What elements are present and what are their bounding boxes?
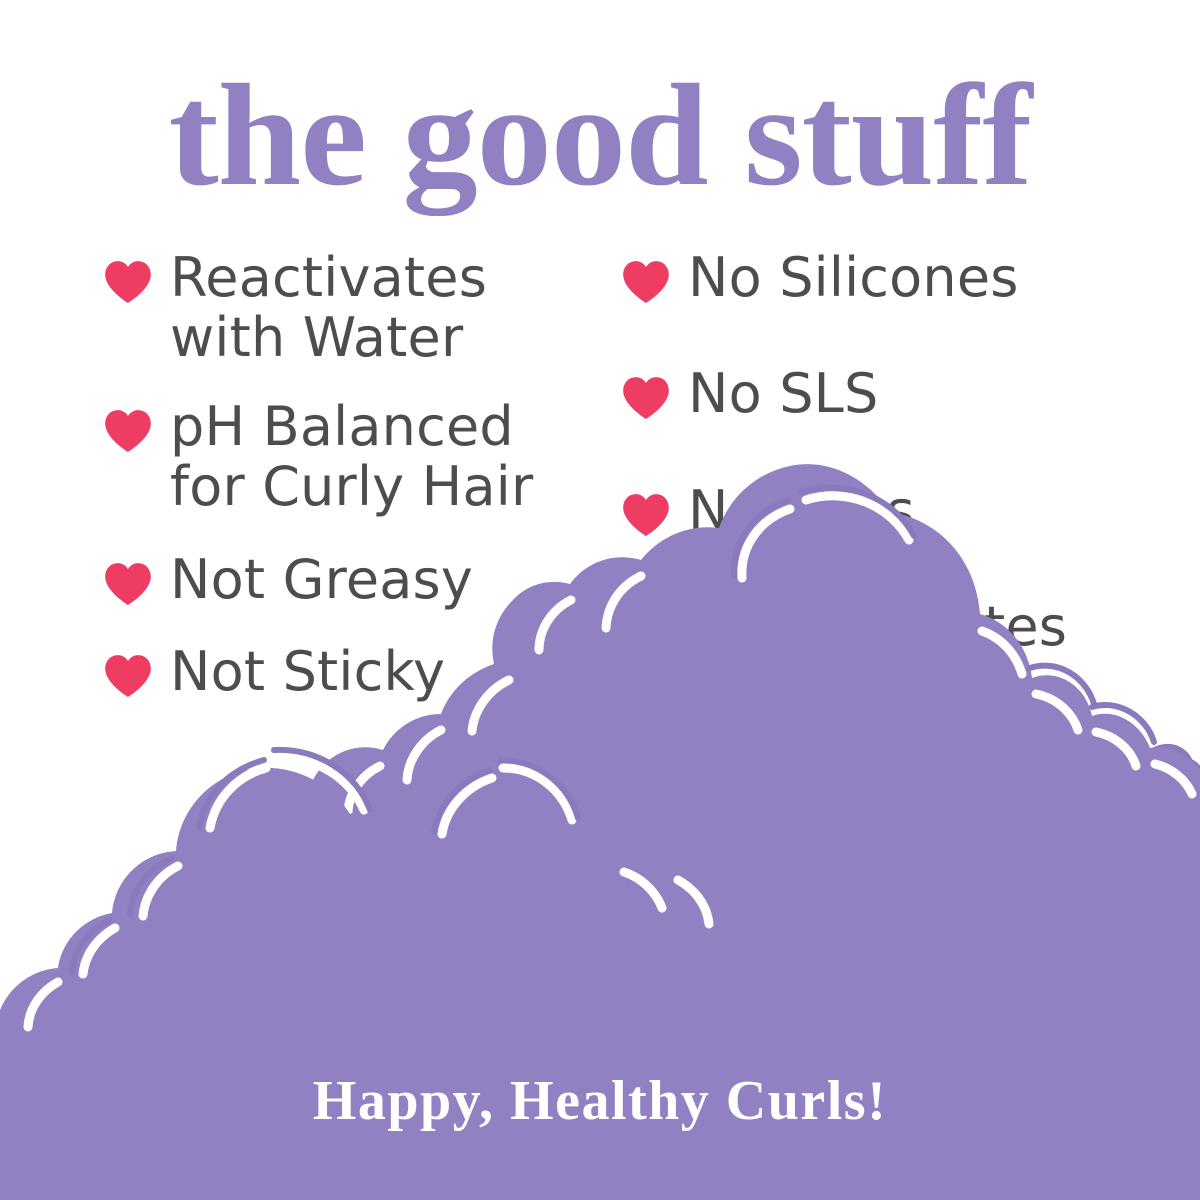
list-item-label: No SLS [688,364,878,424]
list-item-label: pH Balanced for Curly Hair [170,397,533,518]
list-item: No Silicones [622,248,1182,308]
list-item-label: Reactivates with Water [170,248,487,369]
swirl-icon [541,872,611,1010]
swirl-icon [1076,812,1130,825]
cloud-outline [72,920,110,972]
list-item: Not Greasy [104,550,624,610]
swirl-icon [78,1014,146,1032]
list-item: No Phthalates [622,597,1182,657]
cloud-highlight [83,928,115,974]
cloud-highlight [28,982,58,1027]
list-item-label: No Dyes [688,481,915,541]
cloud-highlight [143,866,178,916]
heart-icon [622,493,670,537]
heart-icon [104,654,152,698]
heart-icon [104,562,152,606]
list-item: No SLS [622,364,1182,424]
heart-icon [104,409,152,453]
feature-lists: Reactivates with Water pH Balanced for C… [0,248,1200,808]
heart-icon [622,376,670,420]
heart-icon [622,260,670,304]
heart-icon [104,260,152,304]
list-item: Not Sticky [104,642,624,702]
poster-canvas: the good stuff Reactivates with Water [0,0,1200,1200]
page-title: the good stuff [0,62,1200,208]
heart-icon [622,609,670,653]
list-item: Reactivates with Water [104,248,624,369]
feature-column-left: Reactivates with Water pH Balanced for C… [104,248,624,729]
swirl-icon [655,904,755,1090]
cloud-outline [130,858,172,914]
feature-column-right: No Silicones No SLS No Dyes [622,248,1182,714]
swirl-icon [20,972,150,1029]
list-item-label: Not Greasy [170,550,473,610]
footer-tagline: Happy, Healthy Curls! [0,1073,1200,1129]
cloud-shape [0,768,735,1200]
cloud-highlight [678,880,709,924]
list-item-label: Not Sticky [170,642,445,702]
list-item-label: No Silicones [688,248,1019,308]
cloud-highlight [281,830,310,874]
list-item-label: No Phthalates [688,597,1067,657]
cloud-highlight [624,872,662,908]
list-item: pH Balanced for Curly Hair [104,397,624,518]
cloud-left [0,750,735,1200]
list-item: No Dyes [622,481,1182,541]
